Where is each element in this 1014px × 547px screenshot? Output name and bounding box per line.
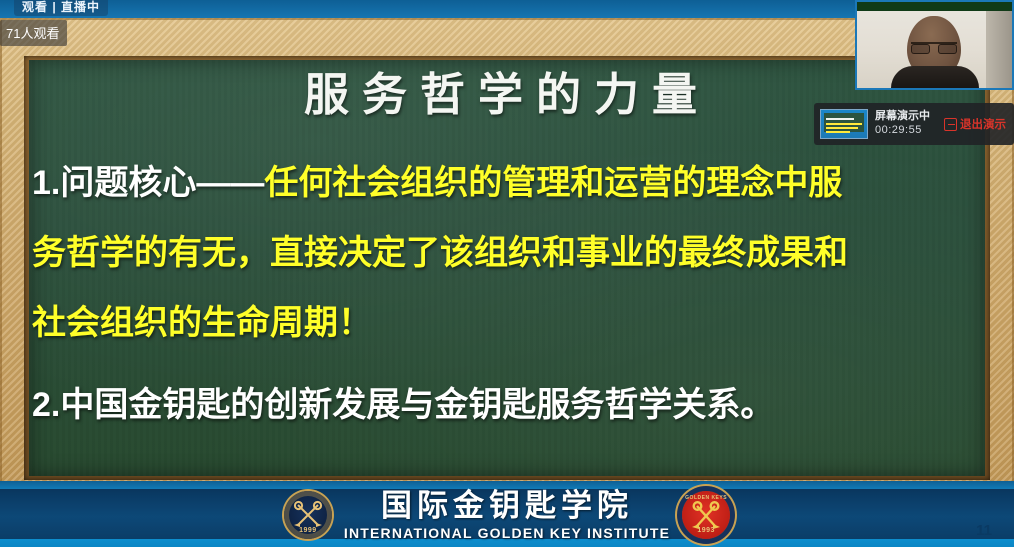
- shared-screen-thumbnail[interactable]: [820, 109, 868, 139]
- slide-body-line-yellow: 任何社会组织的管理和运营的理念中服: [264, 164, 842, 202]
- share-status-label: 屏幕演示中: [875, 110, 935, 124]
- institute-name-cn: 国际金钥匙学院: [381, 490, 633, 521]
- thumbnail-text-line: [826, 118, 854, 120]
- slide-body: 1.问题核心——任何社会组织的管理和运营的理念中服 务哲学的有无，直接决定了该组…: [32, 148, 982, 440]
- slide-body-line-white: 2.中国金钥匙的创新发展与金钥匙服务哲学关系。: [32, 386, 774, 424]
- golden-key-emblem-red-icon: GOLDEN KEYS 1993: [682, 491, 730, 539]
- slide-body-line-white: 1.问题核心——: [32, 164, 264, 202]
- live-status-text: 观看 | 直播中: [14, 0, 108, 16]
- glasses-left-lens: [911, 44, 930, 54]
- share-timer: 00:29:55: [875, 124, 935, 138]
- presenter-torso: [891, 66, 979, 88]
- slide-body-line: 1.问题核心——任何社会组织的管理和运营的理念中服: [32, 148, 982, 218]
- thumbnail-text-line: [826, 123, 862, 125]
- slide-body-line: 社会组织的生命周期！: [32, 288, 982, 358]
- slide-body-line: 务哲学的有无，直接决定了该组织和事业的最终成果和: [32, 218, 982, 288]
- slide-body-line-yellow: 社会组织的生命周期！: [32, 304, 372, 342]
- exit-presentation-button[interactable]: 退出演示: [942, 114, 1008, 134]
- golden-key-emblem-navy-icon: 1999: [284, 491, 332, 539]
- emblem-year: 1993: [682, 527, 730, 534]
- webcam-background-edge: [986, 2, 1012, 88]
- thumbnail-text-line: [826, 127, 858, 129]
- emblem-year: 1999: [284, 527, 332, 534]
- slide-body-spacer: [32, 358, 982, 370]
- exit-presentation-label: 退出演示: [960, 116, 1006, 132]
- viewer-count-badge: 71人观看: [0, 20, 67, 46]
- institute-name-block: 国际金钥匙学院 INTERNATIONAL GOLDEN KEY INSTITU…: [344, 490, 670, 540]
- slide-footer-branding: 1999 国际金钥匙学院 INTERNATIONAL GOLDEN KEY IN…: [0, 487, 1014, 543]
- slide-body-line: 2.中国金钥匙的创新发展与金钥匙服务哲学关系。: [32, 370, 982, 440]
- institute-name-en: INTERNATIONAL GOLDEN KEY INSTITUTE: [344, 526, 670, 540]
- screen-share-viewport: 服务哲学的力量 1.问题核心——任何社会组织的管理和运营的理念中服 务哲学的有无…: [0, 0, 1014, 547]
- thumbnail-text-line: [826, 131, 850, 133]
- slide-body-line-yellow: 务哲学的有无，直接决定了该组织和事业的最终成果和: [32, 234, 848, 272]
- share-status-block: 屏幕演示中 00:29:55: [875, 110, 935, 138]
- thumbnail-slide: [824, 113, 864, 132]
- presenter-webcam-thumbnail[interactable]: [855, 0, 1014, 90]
- exit-screen-share-icon: [944, 118, 957, 131]
- webcam-top-edge: [857, 2, 1012, 11]
- presenter-glasses-icon: [911, 42, 957, 53]
- glasses-right-lens: [938, 44, 957, 54]
- screen-share-control-bar[interactable]: 屏幕演示中 00:29:55 退出演示: [814, 103, 1014, 145]
- slide-footer: 1999 国际金钥匙学院 INTERNATIONAL GOLDEN KEY IN…: [0, 481, 1014, 547]
- slide-page-number: 11: [976, 522, 992, 539]
